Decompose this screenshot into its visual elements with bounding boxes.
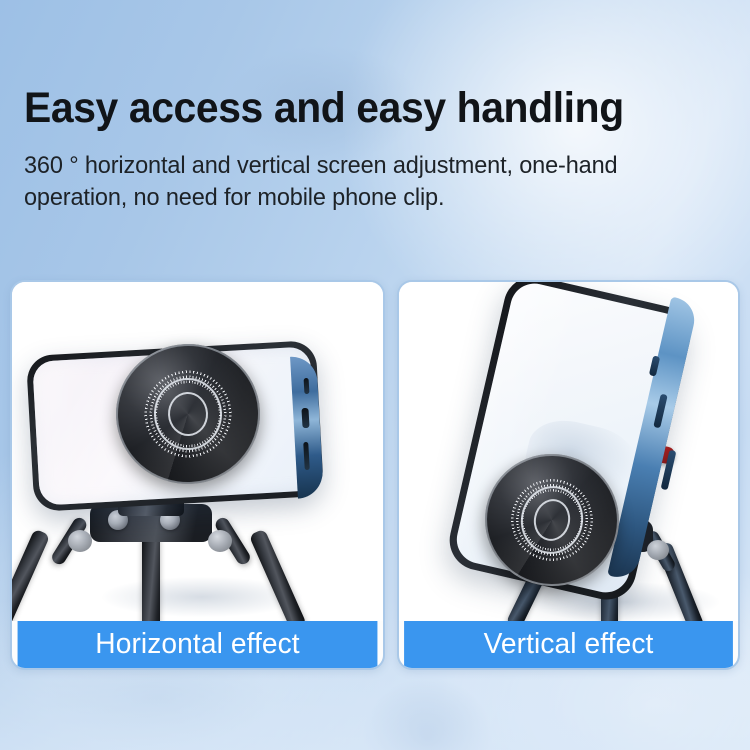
- caption-horizontal-label: Horizontal effect: [95, 628, 299, 661]
- tripod-leg-center: [142, 534, 160, 621]
- caption-vertical: Vertical effect: [404, 621, 733, 668]
- caption-vertical-label: Vertical effect: [484, 628, 654, 661]
- product-feature-image: Easy access and easy handling 360 ° hori…: [0, 0, 750, 750]
- page-title: Easy access and easy handling: [24, 82, 624, 134]
- art-vertical: [399, 282, 738, 621]
- tripod-cap-right: [208, 530, 232, 552]
- tripod-leg-left: [12, 529, 50, 621]
- phone-charging-port: [301, 408, 309, 428]
- art-horizontal: [12, 282, 383, 621]
- panel-horizontal-effect: Horizontal effect: [10, 280, 385, 670]
- phone-speaker-grille-top: [304, 378, 310, 394]
- tripod-cap-left: [68, 530, 92, 552]
- subtitle-line-1: 360 ° horizontal and vertical screen adj…: [24, 152, 617, 179]
- photo-vertical: [399, 282, 738, 621]
- subtitle-line-2: operation, no need for mobile phone clip…: [24, 182, 696, 214]
- caption-horizontal: Horizontal effect: [18, 621, 378, 668]
- photo-horizontal: [12, 282, 383, 621]
- page-subtitle: 360 ° horizontal and vertical screen adj…: [24, 150, 696, 214]
- tripod-cap-right: [647, 540, 669, 560]
- panel-vertical-effect: Vertical effect: [397, 280, 740, 670]
